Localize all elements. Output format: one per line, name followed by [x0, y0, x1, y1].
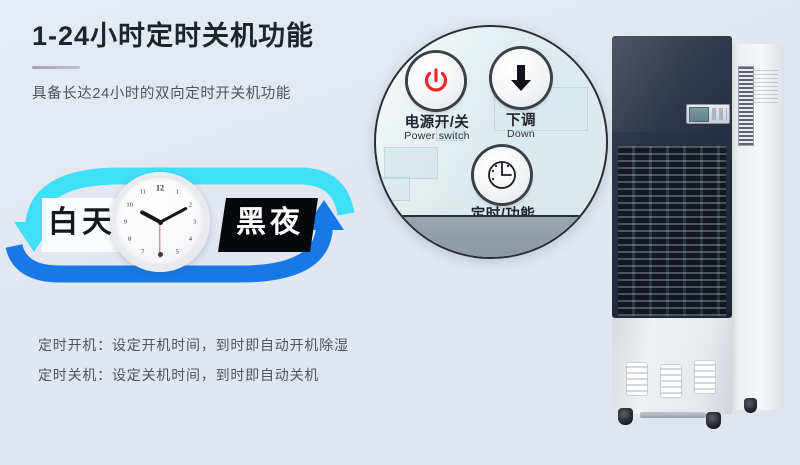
bullet-timer-on: 定时开机：设定开机时间，到时即自动开机除湿 [38, 330, 438, 360]
unit-base-rail [640, 412, 706, 418]
down-button[interactable] [492, 49, 550, 107]
power-icon [421, 66, 451, 96]
page-subtitle: 具备长达24小时的双向定时开关机功能 [32, 82, 392, 103]
title-divider [32, 66, 80, 69]
panel-lower-band [374, 215, 608, 257]
down-label-en: Down [480, 129, 562, 141]
clock-hour-mark: 7 [141, 249, 144, 256]
unit-display-keys [712, 108, 727, 120]
clock-face: 12 1 2 3 4 5 6 7 8 9 10 11 [119, 181, 201, 263]
clock-icon [484, 157, 520, 193]
poster-canvas: 1-24小时定时关机功能 具备长达24小时的双向定时开关机功能 白天 黑夜 12… [0, 0, 800, 465]
timing-function-button[interactable] [474, 147, 530, 203]
unit-caster-wheel [744, 398, 757, 413]
night-label: 黑夜 [236, 208, 304, 238]
product-image [600, 30, 792, 430]
clock-hour-mark: 10 [126, 201, 133, 208]
analog-clock: 12 1 2 3 4 5 6 7 8 9 10 11 [110, 172, 210, 272]
unit-side-grille [738, 66, 754, 146]
down-label-cn: 下调 [480, 113, 562, 129]
unit-base-vent [660, 364, 682, 398]
unit-base-vent [626, 362, 648, 396]
unit-display-screen [689, 107, 709, 122]
down-caption: 下调 Down [480, 113, 562, 141]
headline-block: 1-24小时定时关机功能 具备长达24小时的双向定时开关机功能 [32, 22, 392, 103]
unit-caster-wheel [706, 412, 721, 429]
clock-hour-mark: 11 [140, 188, 146, 195]
unit-caster-wheel [618, 408, 633, 425]
feature-bullets: 定时开机：设定开机时间，到时即自动开机除湿 定时关机：设定关机时间，到时即自动关… [38, 330, 438, 390]
panel-decor-rect [378, 177, 410, 201]
clock-hour-mark: 8 [128, 236, 131, 243]
clock-second-hand [159, 222, 160, 255]
day-label: 白天 [48, 208, 116, 238]
clock-hour-mark: 2 [189, 201, 192, 208]
page-title: 1-24小时定时关机功能 [32, 22, 392, 52]
power-switch-caption: 电源开/关 Power switch [390, 115, 484, 143]
clock-hour-mark: 3 [193, 219, 196, 226]
power-switch-label-cn: 电源开/关 [390, 115, 484, 131]
panel-decor-rect [384, 147, 438, 179]
unit-air-vents [618, 146, 726, 316]
clock-minute-hand [159, 207, 187, 224]
unit-control-display [686, 104, 730, 124]
unit-spec-plate [754, 70, 778, 106]
clock-hour-mark: 4 [189, 236, 192, 243]
clock-hour-mark: 1 [176, 188, 179, 195]
clock-hour-mark: 9 [124, 219, 127, 226]
clock-hour-mark: 5 [176, 249, 179, 256]
power-switch-label-en: Power switch [390, 131, 484, 143]
power-switch-button[interactable] [408, 53, 464, 109]
control-panel-closeup: 电源开/关 Power switch 下调 Down [374, 25, 608, 259]
unit-base-vent [694, 360, 716, 394]
clock-hour-mark: 12 [156, 183, 164, 192]
clock-second-dot [158, 252, 163, 257]
arrow-down-icon [508, 62, 534, 94]
clock-center-cap [158, 220, 163, 225]
bullet-timer-off: 定时关机：设定关机时间，到时即自动关机 [38, 360, 438, 390]
